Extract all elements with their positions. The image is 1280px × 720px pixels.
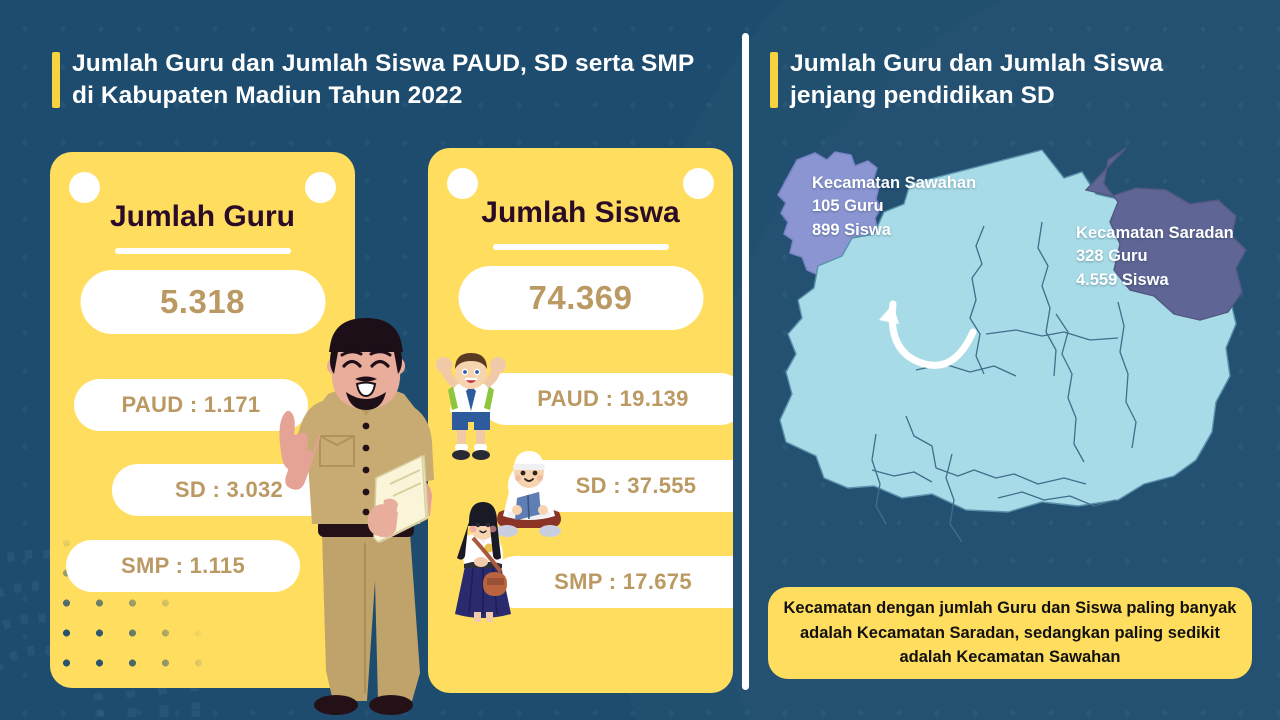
panel-divider	[742, 33, 749, 690]
map-label-sawahan-students: 899 Siswa	[812, 219, 976, 242]
title-accent-bar-left	[52, 52, 60, 108]
map-label-sawahan: Kecamatan Sawahan 105 Guru 899 Siswa	[812, 172, 976, 242]
infographic-canvas: Jumlah Guru dan Jumlah Siswa PAUD, SD se…	[0, 0, 1280, 720]
map-label-saradan-district: Kecamatan Saradan	[1076, 222, 1234, 245]
card-siswa-heading: Jumlah Siswa	[428, 196, 733, 230]
card-siswa-breakdown-smp: SMP : 17.675	[490, 556, 733, 608]
map-label-sawahan-teachers: 105 Guru	[812, 195, 976, 218]
map-label-saradan-teachers: 328 Guru	[1076, 245, 1234, 268]
map-label-saradan: Kecamatan Saradan 328 Guru 4.559 Siswa	[1076, 222, 1234, 292]
card-punch-hole-right	[683, 168, 714, 199]
card-punch-hole-left	[69, 172, 100, 203]
girl-student-with-bag-illustration	[443, 500, 523, 628]
right-panel-title-text: Jumlah Guru dan Jumlah Siswa jenjang pen…	[790, 50, 1163, 109]
title-accent-bar-right	[770, 52, 778, 108]
card-siswa-divider	[493, 244, 669, 250]
card-guru-heading: Jumlah Guru	[50, 200, 355, 234]
map-label-saradan-students: 4.559 Siswa	[1076, 269, 1234, 292]
left-panel-title-text: Jumlah Guru dan Jumlah Siswa PAUD, SD se…	[72, 50, 694, 109]
map-label-sawahan-district: Kecamatan Sawahan	[812, 172, 976, 195]
card-punch-hole-right	[305, 172, 336, 203]
right-panel-title: Jumlah Guru dan Jumlah Siswa jenjang pen…	[790, 48, 1220, 112]
card-dot-pattern	[50, 498, 260, 688]
card-siswa-total: 74.369	[458, 266, 703, 330]
card-punch-hole-left	[447, 168, 478, 199]
left-panel-title: Jumlah Guru dan Jumlah Siswa PAUD, SD se…	[72, 48, 712, 112]
card-guru-divider	[115, 248, 291, 254]
map-summary-caption: Kecamatan dengan jumlah Guru dan Siswa p…	[768, 587, 1252, 679]
